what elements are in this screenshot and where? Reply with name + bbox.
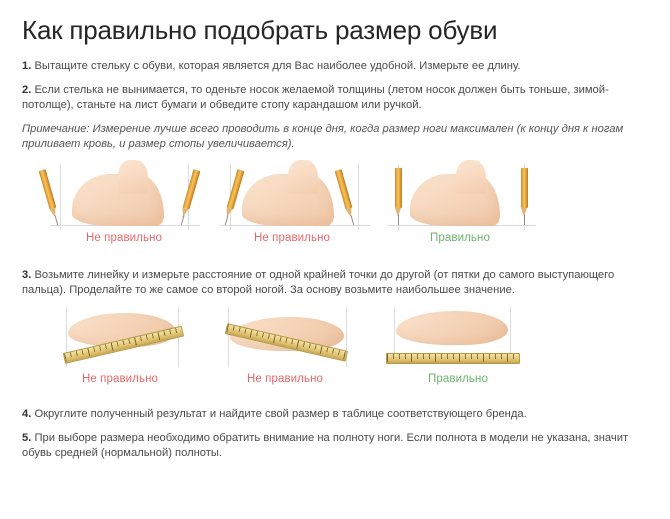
article-page: Как правильно подобрать размер обуви 1. …	[0, 16, 670, 519]
ankle-silhouette	[118, 160, 148, 194]
panel-ruler-angled-up: Не правильно	[40, 307, 200, 395]
pencil-body	[521, 168, 528, 208]
ruler-icon	[386, 353, 520, 364]
step-5-text: При выборе размера необходимо обратить в…	[22, 432, 628, 459]
ruler-ticks-major	[387, 354, 519, 363]
caption-incorrect: Не правильно	[40, 373, 200, 385]
pencil-body	[39, 169, 57, 209]
panel-ruler-angled-down: Не правильно	[200, 307, 370, 395]
caption-correct: Правильно	[376, 232, 544, 244]
foot-silhouette	[410, 174, 500, 226]
footprint-silhouette	[396, 311, 508, 345]
step-3-number: 3.	[22, 269, 31, 281]
step-1-paragraph: 1. Вытащите стельку с обуви, которая явл…	[22, 59, 648, 74]
pencil-left-icon	[395, 168, 402, 224]
step-3-paragraph: 3. Возьмите линейку и измерьте расстояни…	[22, 268, 648, 298]
caption-correct: Правильно	[370, 373, 546, 385]
step-3-text: Возьмите линейку и измерьте расстояние о…	[22, 269, 614, 296]
caption-incorrect: Не правильно	[208, 232, 376, 244]
pencil-body	[395, 168, 402, 208]
guide-line-right	[510, 307, 511, 355]
pencil-body	[335, 169, 353, 209]
pencil-lead	[398, 215, 399, 225]
illustration-rulers: Не правильно Не правильно	[22, 307, 648, 395]
step-5-paragraph: 5. При выборе размера необходимо обратит…	[22, 431, 648, 461]
pencil-bad-1-stage	[40, 162, 208, 234]
ankle-silhouette	[456, 160, 486, 194]
ankle-silhouette	[288, 160, 318, 194]
ruler-bad-2-stage	[200, 307, 370, 375]
pencil-lead	[524, 215, 525, 225]
note-paragraph: Примечание: Измерение лучше всего провод…	[22, 122, 648, 152]
pencil-left-icon	[39, 169, 61, 225]
panel-pencil-tilted-outward: Не правильно	[40, 162, 208, 254]
pencil-body	[183, 169, 201, 209]
ruler-bad-1-stage	[40, 307, 200, 375]
step-5-number: 5.	[22, 432, 31, 444]
guide-line-right	[358, 164, 359, 230]
step-2-text: Если стелька не вынимается, то оденьте н…	[22, 84, 609, 111]
page-title: Как правильно подобрать размер обуви	[22, 16, 648, 45]
step-2-paragraph: 2. Если стелька не вынимается, то оденьт…	[22, 83, 648, 113]
panel-ruler-straight: Правильно	[370, 307, 546, 395]
pencil-right-icon	[335, 169, 357, 225]
pencil-right-icon	[178, 169, 200, 225]
guide-line-left	[394, 307, 395, 355]
guide-line-left	[228, 307, 229, 367]
ruler-good-stage	[370, 307, 546, 375]
step-1-number: 1.	[22, 60, 31, 72]
caption-incorrect: Не правильно	[200, 373, 370, 385]
step-2-number: 2.	[22, 84, 31, 96]
pencil-right-icon	[521, 168, 528, 224]
step-4-number: 4.	[22, 408, 31, 420]
pencil-bad-2-stage	[208, 162, 376, 234]
step-4-paragraph: 4. Округлите полученный результат и найд…	[22, 407, 648, 422]
pencil-left-icon	[222, 169, 244, 225]
panel-pencil-tilted-inward: Не правильно	[208, 162, 376, 254]
step-1-text: Вытащите стельку с обуви, которая являет…	[31, 60, 520, 72]
panel-pencil-vertical: Правильно	[376, 162, 544, 254]
step-4-text: Округлите полученный результат и найдите…	[31, 408, 526, 420]
pencil-good-stage	[376, 162, 544, 234]
caption-incorrect: Не правильно	[40, 232, 208, 244]
illustration-pencils: Не правильно	[22, 162, 648, 254]
